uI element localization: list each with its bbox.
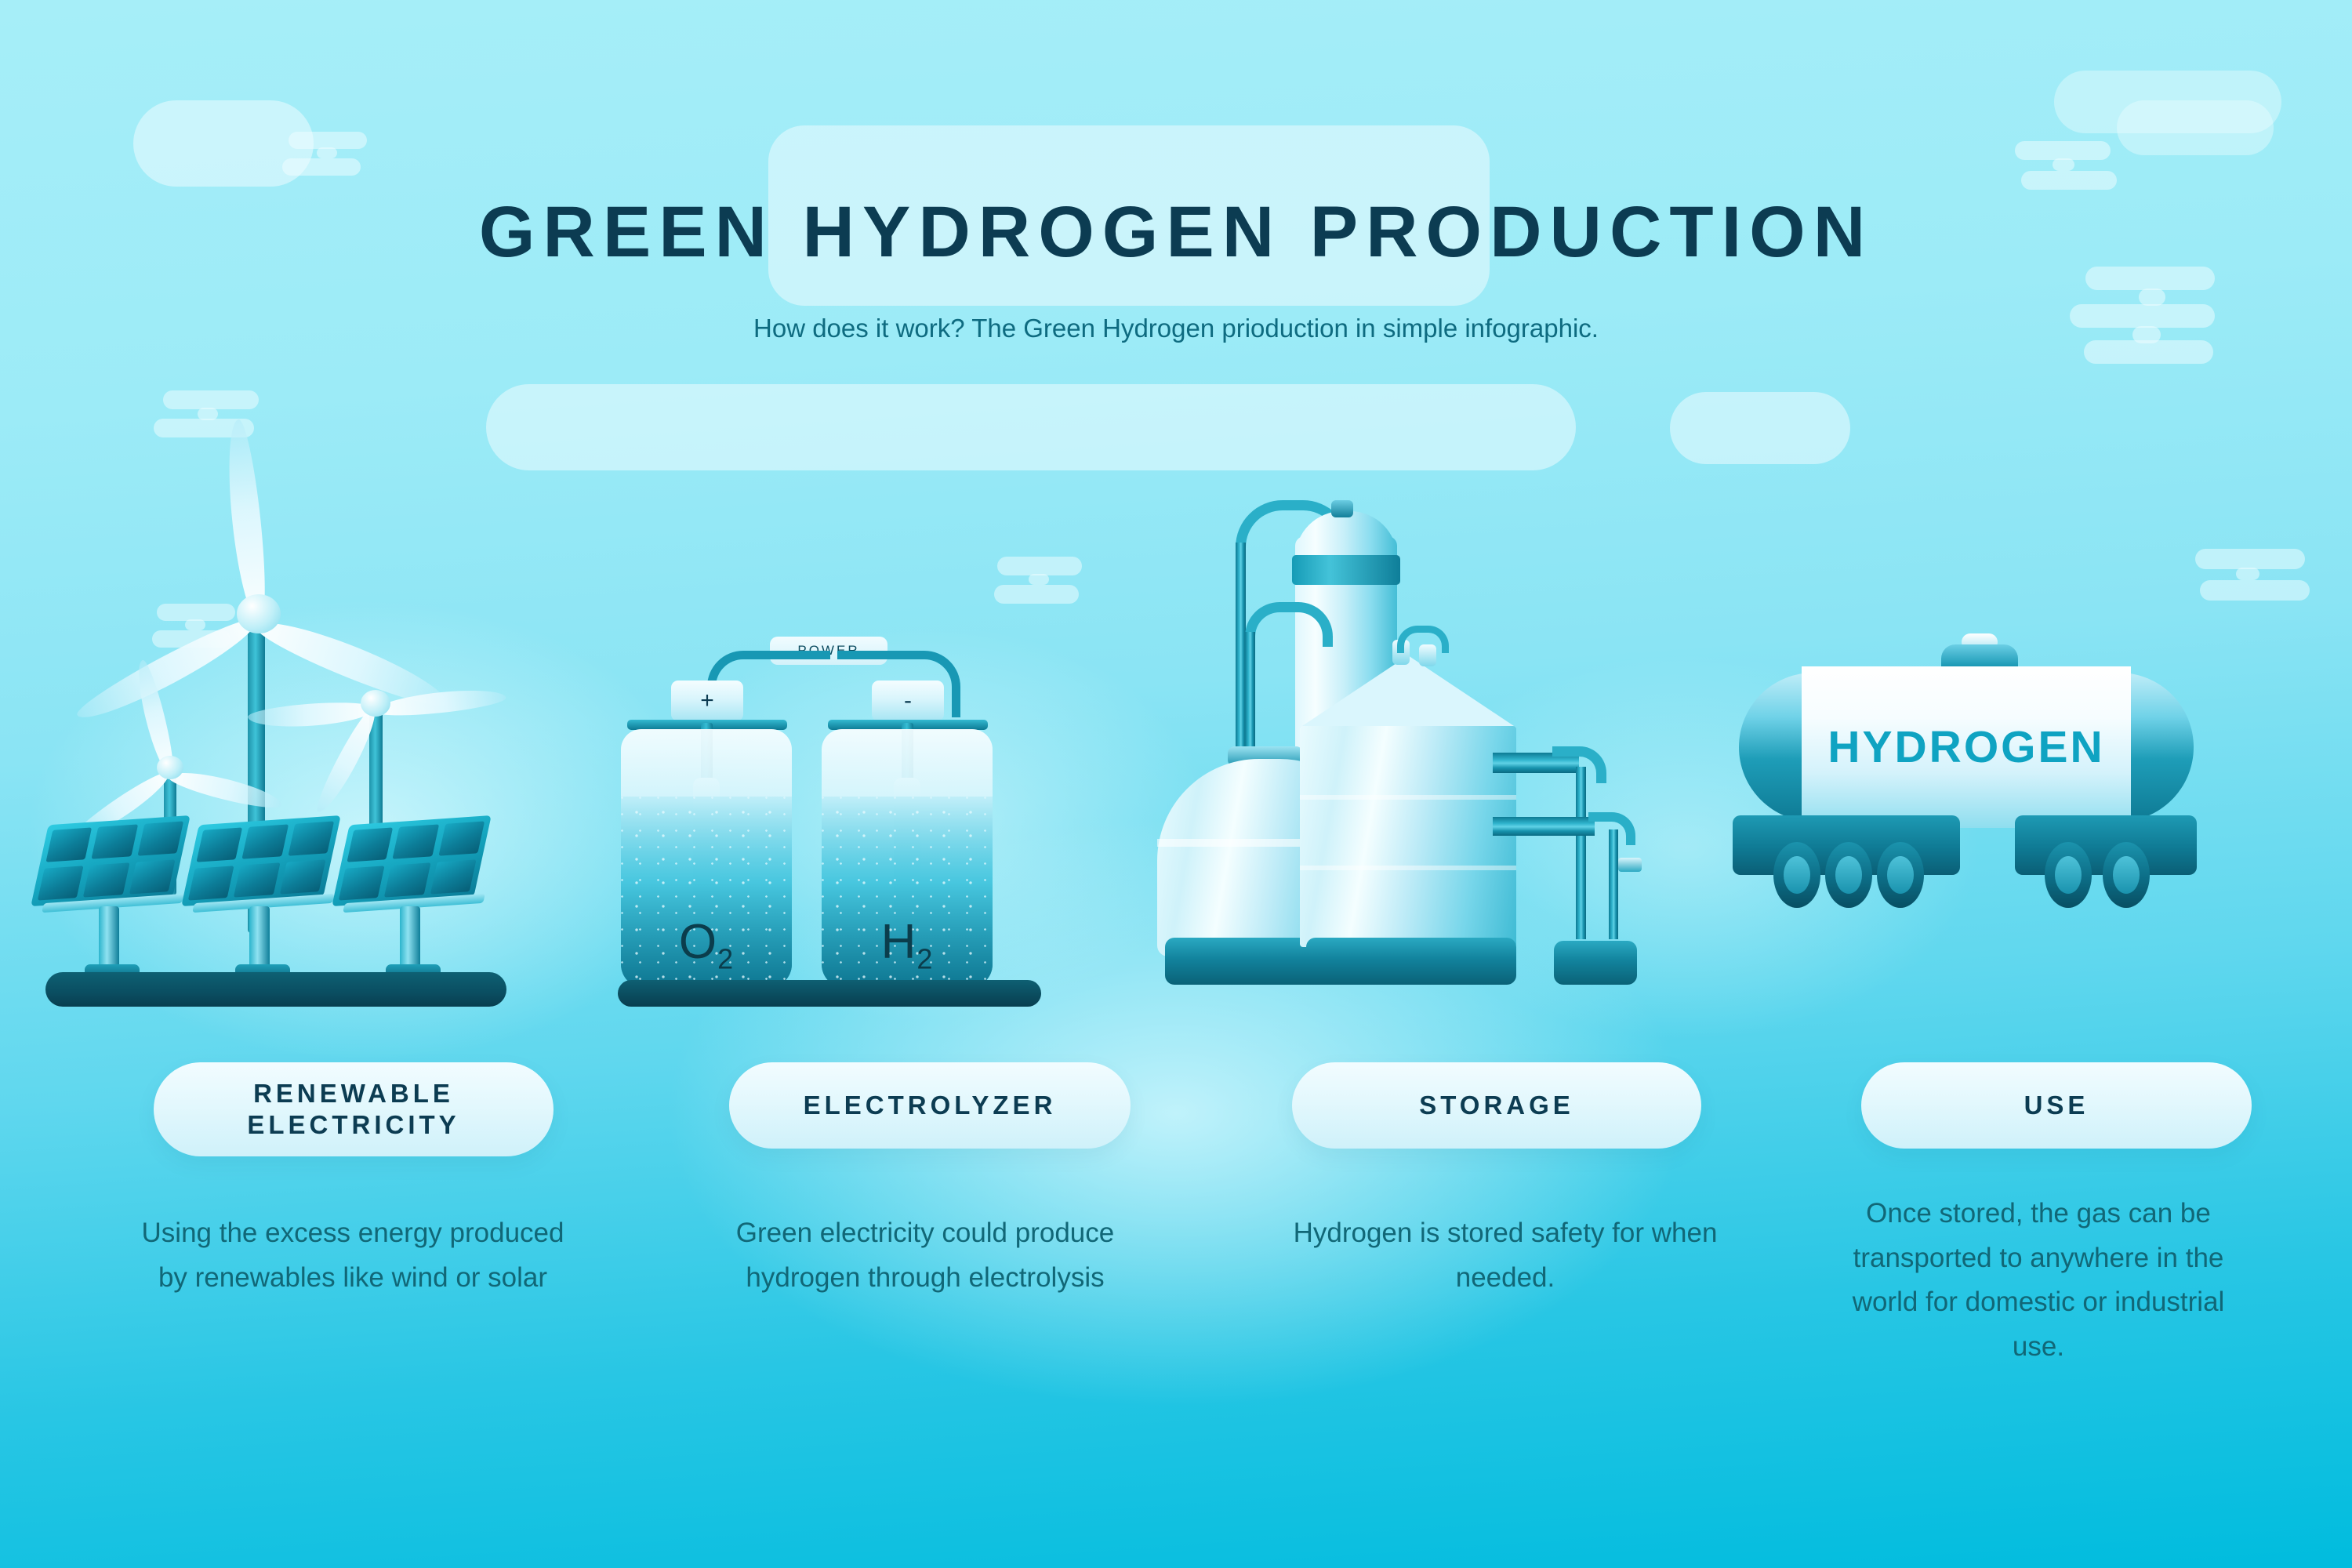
step-label-use[interactable]: USE <box>1861 1062 2252 1149</box>
ground-bar <box>618 980 1041 1007</box>
cloud-shape <box>486 384 1576 470</box>
outlet-pipe-downleg-lower <box>1609 829 1618 939</box>
solar-cell <box>438 821 485 855</box>
page-title: GREEN HYDROGEN PRODUCTION <box>0 196 2352 268</box>
turbine-hub <box>361 690 390 717</box>
outlet-pipe-downleg-upper <box>1576 767 1586 939</box>
silo-body <box>1300 726 1516 947</box>
pipe-valve-stub <box>1618 858 1642 872</box>
turbine-blade <box>374 686 507 720</box>
solar-cell <box>384 862 430 897</box>
tanker-wheel <box>1877 842 1924 908</box>
illustration-hydrogen-tanker: HYDROGEN <box>1733 470 2219 1019</box>
solar-cell <box>83 862 129 897</box>
panel-post <box>400 906 420 967</box>
step-column-electrolyzer: POWER + O2 - <box>596 470 1082 1019</box>
solar-cell <box>347 827 393 862</box>
solar-cell <box>129 859 175 894</box>
solar-cell <box>393 824 439 858</box>
solar-cell <box>137 821 183 855</box>
solar-panel <box>342 815 488 988</box>
silo-roof-pipe-bend <box>1397 626 1449 653</box>
step-column-renewable-electricity <box>31 470 517 1019</box>
tanker-wheel <box>1773 842 1820 908</box>
step-column-use: HYDROGEN <box>1733 470 2219 1019</box>
solar-panel <box>41 815 187 988</box>
solar-cell <box>288 821 334 855</box>
cloud-shape <box>2054 71 2281 133</box>
wind-motif-icon <box>289 132 375 187</box>
solar-cell <box>430 859 476 894</box>
tanker-wheel <box>2103 842 2150 908</box>
wind-motif-icon <box>2015 141 2132 204</box>
vessel-pipe-bend <box>1245 602 1333 647</box>
silo-cone-roof <box>1300 655 1516 728</box>
silo-seam <box>1300 866 1516 870</box>
illustration-storage <box>1160 470 1646 1019</box>
solar-cell <box>45 827 92 862</box>
hydrogen-label: H2 <box>822 914 993 975</box>
solar-cell <box>234 862 280 897</box>
solar-cell <box>92 824 138 858</box>
tanker-label-panel: HYDROGEN <box>1802 666 2131 828</box>
anode-terminal: + <box>671 681 743 721</box>
silo-outlet-pipe-lower <box>1493 817 1595 836</box>
step-label-electrolyzer[interactable]: ELECTROLYZER <box>729 1062 1131 1149</box>
oxygen-beaker: O2 <box>621 729 792 988</box>
cloud-shape <box>133 100 314 187</box>
oxygen-label: O2 <box>621 914 792 975</box>
step-caption-use: Once stored, the gas can be transported … <box>1827 1192 2250 1370</box>
step-label-storage[interactable]: STORAGE <box>1292 1062 1701 1149</box>
cloud-shape <box>1670 392 1850 464</box>
pipe-foot-base <box>1554 941 1637 985</box>
illustration-wind-solar <box>31 470 517 1019</box>
step-caption-electrolyzer: Green electricity could produce hydrogen… <box>706 1211 1145 1300</box>
step-label-line2: ELECTRICITY <box>247 1110 459 1139</box>
panel-post <box>99 906 119 967</box>
vessel-pipe-downleg <box>1245 632 1255 760</box>
step-caption-renewable-electricity: Using the excess energy produced by rene… <box>133 1211 572 1300</box>
illustration-electrolyzer: POWER + O2 - <box>596 470 1082 1019</box>
solar-cell <box>196 827 242 862</box>
solar-cell <box>242 824 289 858</box>
step-label-renewable-electricity[interactable]: RENEWABLE ELECTRICITY <box>154 1062 554 1156</box>
tanker-wheel <box>1825 842 1872 908</box>
cloud-shape <box>2117 100 2274 155</box>
solar-cell <box>38 866 84 900</box>
tanker-label: HYDROGEN <box>1828 721 2104 773</box>
solar-panel <box>191 815 337 988</box>
anode-sign: + <box>700 689 714 713</box>
solar-cell <box>279 859 325 894</box>
ground-bar <box>45 972 506 1007</box>
vertical-vessel-band <box>1292 555 1400 585</box>
solar-cell <box>339 866 385 900</box>
step-column-storage <box>1160 470 1646 1019</box>
step-caption-storage: Hydrogen is stored safety for when neede… <box>1270 1211 1740 1300</box>
vessel-top-nozzle <box>1331 500 1353 517</box>
panel-post <box>249 906 270 967</box>
silo-seam <box>1300 795 1516 800</box>
silo-base <box>1306 938 1516 985</box>
page-subtitle: How does it work? The Green Hydrogen pri… <box>0 314 2352 343</box>
cathode-sign: - <box>904 689 912 713</box>
tanker-wheel <box>2045 842 2092 908</box>
solar-cell <box>188 866 234 900</box>
step-label-line1: RENEWABLE <box>253 1079 454 1108</box>
hydrogen-beaker: H2 <box>822 729 993 988</box>
cathode-terminal: - <box>872 681 944 721</box>
infographic-canvas: GREEN HYDROGEN PRODUCTION How does it wo… <box>0 0 2352 1568</box>
